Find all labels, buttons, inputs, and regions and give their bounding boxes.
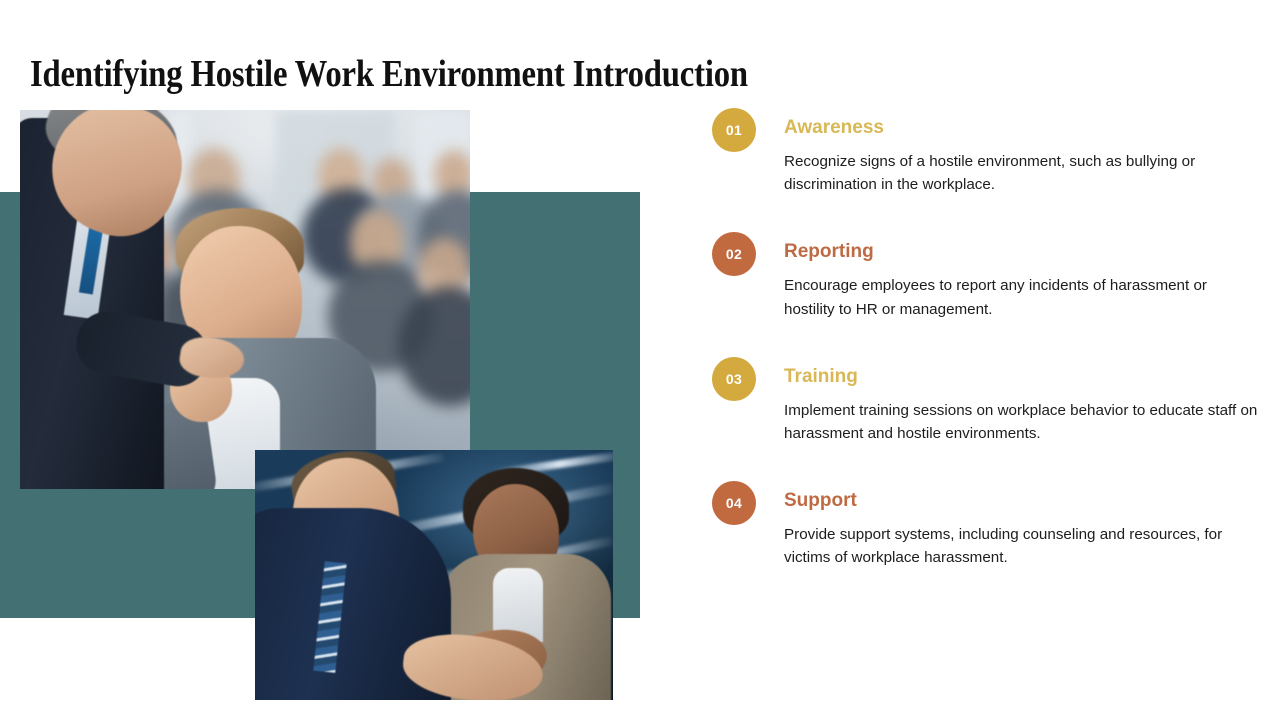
item-description-reporting: Encourage employees to report any incide… <box>784 274 1259 321</box>
item-description-support: Provide support systems, including couns… <box>784 523 1259 570</box>
step-number-badge-04: 04 <box>712 481 756 525</box>
item-description-awareness: Recognize signs of a hostile environment… <box>784 150 1259 197</box>
visual-composition <box>0 90 680 720</box>
slide-root: Identifying Hostile Work Environment Int… <box>0 0 1280 720</box>
key-points-list: 01 Awareness Recognize signs of a hostil… <box>712 108 1260 570</box>
step-number-badge-03: 03 <box>712 357 756 401</box>
discussion-photo-scene <box>255 450 613 700</box>
list-item-reporting[interactable]: 02 Reporting Encourage employees to repo… <box>712 232 1260 320</box>
step-number-badge-02: 02 <box>712 232 756 276</box>
item-heading-awareness: Awareness <box>784 108 1260 139</box>
meeting-confrontation-photo <box>20 110 470 489</box>
list-item-training[interactable]: 03 Training Implement training sessions … <box>712 357 1260 445</box>
item-description-training: Implement training sessions on workplace… <box>784 399 1259 446</box>
list-item-support[interactable]: 04 Support Provide support systems, incl… <box>712 481 1260 569</box>
item-heading-reporting: Reporting <box>784 232 1260 263</box>
colleagues-discussion-photo <box>255 450 613 700</box>
list-item-awareness[interactable]: 01 Awareness Recognize signs of a hostil… <box>712 108 1260 196</box>
item-heading-support: Support <box>784 481 1260 512</box>
meeting-photo-scene <box>20 110 470 489</box>
item-heading-training: Training <box>784 357 1260 388</box>
step-number-badge-01: 01 <box>712 108 756 152</box>
